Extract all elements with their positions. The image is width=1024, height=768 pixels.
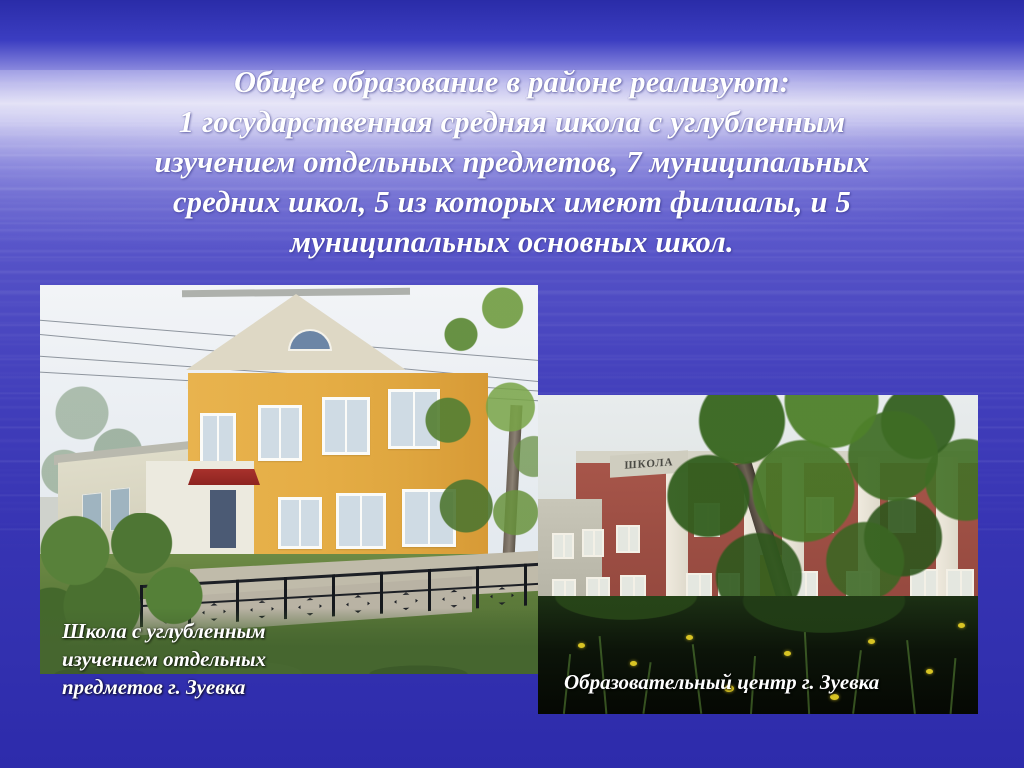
dandelion <box>686 635 693 640</box>
photo-school-advanced-study <box>40 285 538 674</box>
photo-caption-school-advanced-study: Школа с углубленным изучением отдельных … <box>62 617 392 701</box>
dandelion <box>578 643 585 648</box>
window <box>278 497 322 549</box>
window <box>258 405 302 461</box>
dandelion <box>868 639 875 644</box>
window <box>322 397 370 455</box>
window <box>552 533 574 559</box>
photo2-tree-main <box>658 395 938 621</box>
window <box>200 413 236 465</box>
photo-caption-education-center: Образовательный центр г. Зуевка <box>564 668 974 696</box>
fence-post <box>428 569 431 611</box>
window <box>616 525 640 553</box>
photo1-entrance-door <box>210 490 236 548</box>
dandelion <box>784 651 791 656</box>
presentation-slide: Общее образование в районе реализуют: 1 … <box>0 0 1024 768</box>
page-title: Общее образование в районе реализуют: 1 … <box>110 62 914 262</box>
dandelion <box>630 661 637 666</box>
fence-post <box>524 564 527 606</box>
photo1-gable <box>186 294 406 370</box>
photo-education-center: ШКОЛА <box>538 395 978 714</box>
dandelion <box>958 623 965 628</box>
fence-post <box>476 566 479 608</box>
window <box>582 529 604 557</box>
fence-ornament <box>490 586 514 605</box>
fence-ornament <box>442 589 466 608</box>
photo1-entrance-canopy <box>188 469 260 485</box>
window <box>336 493 386 549</box>
